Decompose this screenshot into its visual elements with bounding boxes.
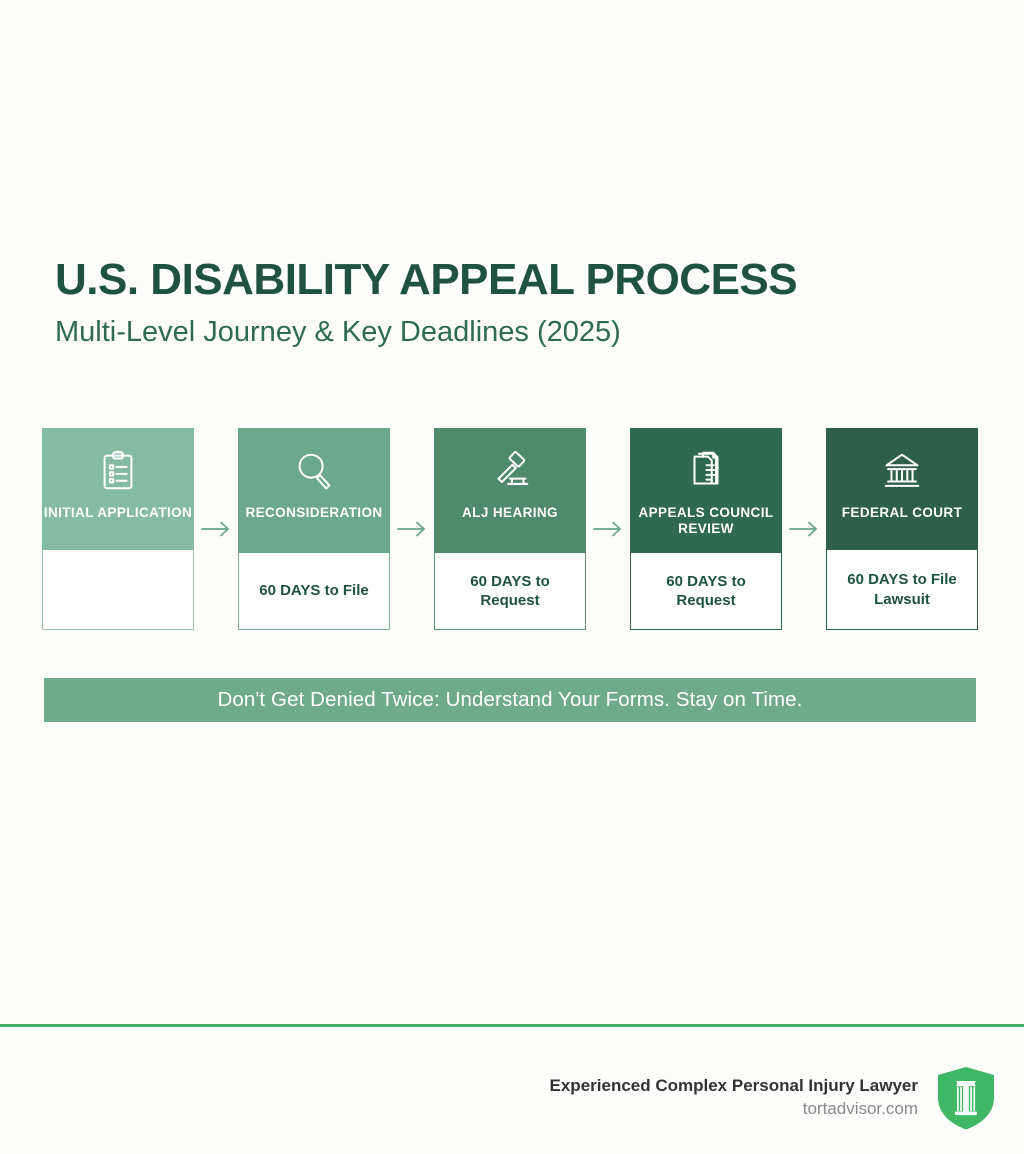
- footer-website[interactable]: tortadvisor.com: [803, 1098, 918, 1121]
- courthouse-icon: [879, 448, 925, 494]
- step-deadline-panel: 60 DAYS to Request: [434, 553, 586, 630]
- step-label: ALJ HEARING: [462, 505, 558, 521]
- step-label: FEDERAL COURT: [842, 505, 962, 521]
- callout-banner-text: Don't Get Denied Twice: Understand Your …: [218, 688, 803, 712]
- step-header: FEDERAL COURT: [826, 428, 978, 550]
- footer-divider: [0, 1024, 1024, 1027]
- step-header: RECONSIDERATION: [238, 428, 390, 553]
- shield-column-logo-icon: [932, 1064, 1000, 1132]
- step-deadline: 60 DAYS to File Lawsuit: [833, 570, 971, 609]
- step-label: RECONSIDERATION: [245, 505, 382, 521]
- footer-tagline: Experienced Complex Personal Injury Lawy…: [550, 1075, 918, 1098]
- page-subtitle: Multi-Level Journey & Key Deadlines (202…: [55, 318, 955, 347]
- step-label: APPEALS COUNCIL REVIEW: [630, 505, 782, 537]
- clipboard-checklist-icon: [95, 448, 141, 494]
- step-deadline: 60 DAYS to Request: [441, 572, 579, 611]
- process-step-reconsideration[interactable]: RECONSIDERATION 60 DAYS to File: [238, 428, 390, 630]
- process-step-appeals-council-review[interactable]: APPEALS COUNCIL REVIEW 60 DAYS to Reques…: [630, 428, 782, 630]
- process-step-alj-hearing[interactable]: ALJ HEARING 60 DAYS to Request: [434, 428, 586, 630]
- process-step-initial-application[interactable]: INITIAL APPLICATION: [42, 428, 194, 630]
- arrow-right-icon: [586, 428, 630, 630]
- arrow-right-icon: [194, 428, 238, 630]
- step-deadline: 60 DAYS to File: [259, 581, 368, 601]
- documents-stack-icon: [683, 448, 729, 494]
- footer: Experienced Complex Personal Injury Lawy…: [550, 1055, 1000, 1141]
- step-header: ALJ HEARING: [434, 428, 586, 553]
- gavel-icon: [487, 448, 533, 494]
- callout-banner: Don't Get Denied Twice: Understand Your …: [44, 678, 976, 722]
- arrow-right-icon: [390, 428, 434, 630]
- step-deadline-panel: 60 DAYS to File: [238, 553, 390, 630]
- step-deadline-panel: 60 DAYS to File Lawsuit: [826, 550, 978, 630]
- step-label: INITIAL APPLICATION: [44, 505, 192, 521]
- page-title: U.S. DISABILITY APPEAL PROCESS: [55, 258, 955, 302]
- arrow-right-icon: [782, 428, 826, 630]
- appeal-process-flow: INITIAL APPLICATION RECONSIDERATION: [42, 428, 976, 630]
- step-deadline-panel: 60 DAYS to Request: [630, 553, 782, 630]
- footer-text-block: Experienced Complex Personal Injury Lawy…: [550, 1075, 918, 1121]
- step-deadline: 60 DAYS to Request: [637, 572, 775, 611]
- process-step-federal-court[interactable]: FEDERAL COURT 60 DAYS to File Lawsuit: [826, 428, 978, 630]
- page-header: U.S. DISABILITY APPEAL PROCESS Multi-Lev…: [55, 258, 955, 347]
- step-header: APPEALS COUNCIL REVIEW: [630, 428, 782, 553]
- step-deadline-panel: [42, 550, 194, 630]
- step-header: INITIAL APPLICATION: [42, 428, 194, 550]
- magnifying-glass-icon: [291, 448, 337, 494]
